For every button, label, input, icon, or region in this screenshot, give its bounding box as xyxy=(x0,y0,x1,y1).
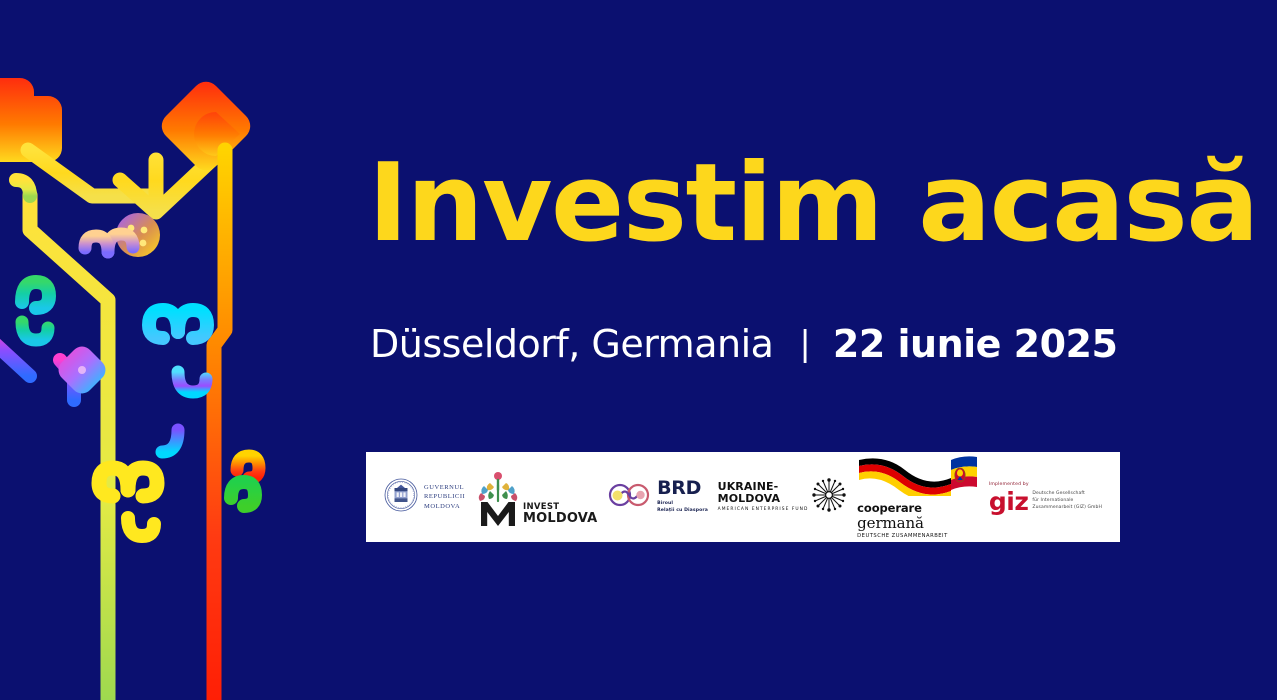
brd-logo-text: BRD Biroul Relații cu Diaspora xyxy=(657,479,708,514)
page-title: Investim acasă xyxy=(368,150,1258,258)
circuit-plant-graphic xyxy=(0,0,270,700)
decor-node-dot-2 xyxy=(141,227,148,234)
decor-fork-cyan-c xyxy=(178,372,206,392)
brd-subtitle: Biroul Relații cu Diaspora xyxy=(657,501,708,514)
decor-tip-orange xyxy=(237,456,259,478)
decor-fork-cyan-d xyxy=(162,430,178,452)
decor-fork-yellow-c xyxy=(128,518,154,536)
umaef-line-2: MOLDOVA xyxy=(718,493,809,505)
decor-tip-yellow-left xyxy=(16,180,30,196)
partner-logo-strip: GUVERNUL REPUBLICII MOLDOVA xyxy=(366,452,1120,542)
event-location: Düsseldorf, Germania xyxy=(370,325,773,363)
banner-content: Investim acasă Düsseldorf, Germania | 22… xyxy=(366,0,1277,700)
giz-desc-line-2: für Internationale xyxy=(1032,498,1073,503)
decor-fork-green-left-b xyxy=(22,322,48,340)
decor-stem-orange-long xyxy=(214,150,225,700)
giz-lockup: giz Deutsche Gesellschaft für Internatio… xyxy=(989,491,1102,512)
logo-brd: BRD Biroul Relații cu Diaspora xyxy=(607,462,708,532)
german-moldovan-flag-ribbon-icon xyxy=(857,454,979,501)
gov-line-2: REPUBLICII xyxy=(424,493,465,500)
gov-line-3: MOLDOVA xyxy=(424,503,460,510)
logo-invest-moldova: INVEST MOLDOVA xyxy=(475,462,597,532)
giz-wordmark: giz xyxy=(989,492,1029,513)
invest-moldova-tree-icon xyxy=(475,471,521,532)
brd-sub-line-2: Relații cu Diaspora xyxy=(657,508,708,513)
decor-fork-green-left-a xyxy=(22,282,49,308)
decor-fork-warm-2 xyxy=(85,236,108,252)
event-banner: Investim acasă Düsseldorf, Germania | 22… xyxy=(0,0,1277,700)
coop-line-3: DEUTSCHE ZUSAMMENARBEIT xyxy=(857,533,948,540)
coop-line-1: cooperare xyxy=(857,502,922,515)
logo-cooperare-germana: cooperare germană DEUTSCHE ZUSAMMENARBEI… xyxy=(857,462,979,532)
logo-ukraine-moldova-aef: UKRAINE- MOLDOVA AMERICAN ENTERPRISE FUN… xyxy=(718,462,848,532)
brd-title: BRD xyxy=(657,479,708,498)
invest-logo-text: INVEST MOLDOVA xyxy=(523,503,597,532)
logo-giz: Implemented by giz Deutsche Gesellschaft… xyxy=(989,462,1102,532)
decor-fork-cyan-b xyxy=(149,310,178,338)
decor-diamond-dot xyxy=(78,366,86,374)
giz-desc-line-1: Deutsche Gesellschaft xyxy=(1032,491,1084,496)
subtitle-separator: | xyxy=(799,327,810,361)
gov-line-1: GUVERNUL xyxy=(424,484,464,491)
giz-desc-line-3: Zusammenarbeit (GIZ) GmbH xyxy=(1032,505,1102,510)
logo-guvernul-republicii-moldova: GUVERNUL REPUBLICII MOLDOVA xyxy=(384,462,465,532)
moldova-state-seal-icon xyxy=(384,478,418,517)
decor-node-dot-4 xyxy=(140,240,147,247)
event-date: 22 iunie 2025 xyxy=(833,325,1118,363)
umaef-starburst-icon xyxy=(811,477,847,518)
umaef-logo-text: UKRAINE- MOLDOVA AMERICAN ENTERPRISE FUN… xyxy=(718,481,809,513)
giz-description: Deutsche Gesellschaft für Internationale… xyxy=(1032,491,1102,512)
umaef-subtitle: AMERICAN ENTERPRISE FUND xyxy=(718,507,809,513)
gov-logo-text: GUVERNUL REPUBLICII MOLDOVA xyxy=(424,483,465,511)
decor-tip-green-right xyxy=(231,482,255,506)
brd-infinity-icon xyxy=(607,483,651,512)
event-subtitle: Düsseldorf, Germania | 22 iunie 2025 xyxy=(370,325,1117,363)
coop-line-2: germană xyxy=(857,515,924,532)
invest-line-2: MOLDOVA xyxy=(523,512,597,526)
brd-sub-line-1: Biroul xyxy=(657,501,673,506)
